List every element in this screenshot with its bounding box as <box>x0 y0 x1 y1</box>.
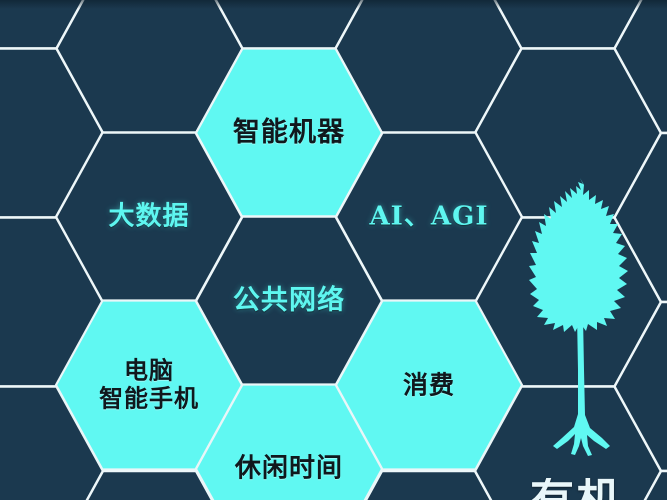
hexagon-grid <box>0 0 667 500</box>
infographic-canvas: 智能机器大数据AI、AGI公共网络电脑智能手机消费休闲时间 有机 <box>0 0 667 500</box>
